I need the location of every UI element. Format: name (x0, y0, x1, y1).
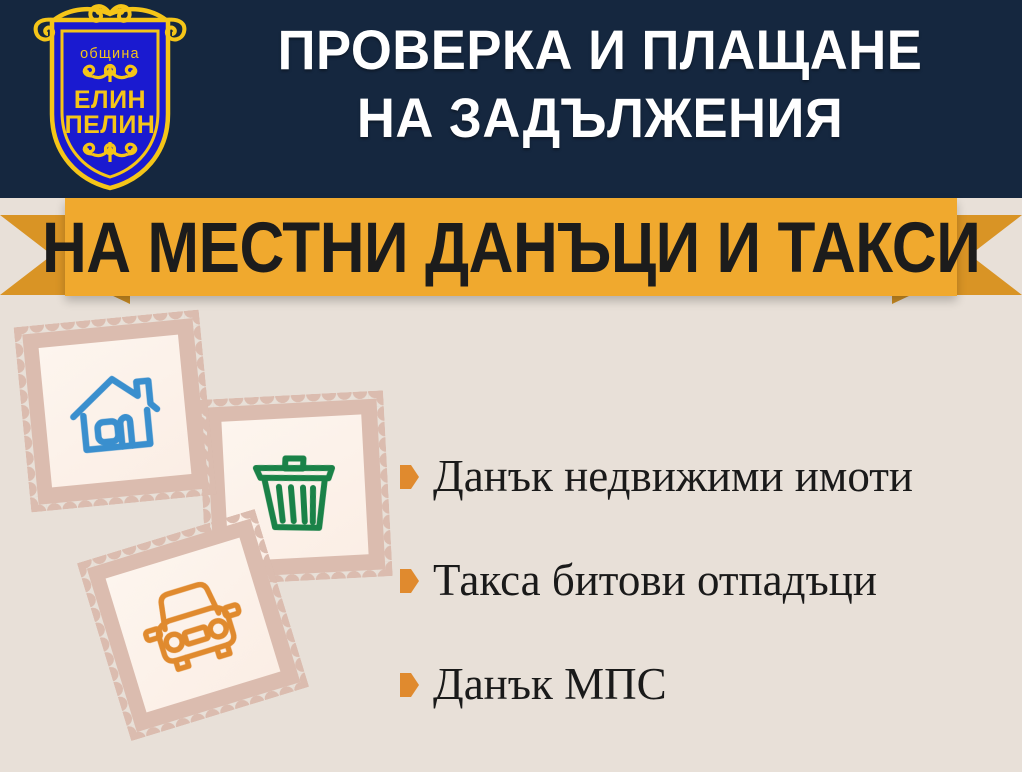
page-title-line2: НА ЗАДЪЛЖЕНИЯ (215, 84, 986, 152)
list-item[interactable]: Данък МПС (400, 632, 1010, 736)
list-item-label: Такса битови отпадъци (433, 558, 877, 603)
stamp-paper (106, 538, 281, 713)
tax-types-list: Данък недвижими имоти Такса битови отпад… (400, 424, 1010, 736)
house-icon (58, 354, 171, 467)
arrow-bullet-icon (400, 569, 419, 593)
municipality-crest: община ЕЛИН ПЕЛИН (30, 2, 190, 194)
crest-name-line2: ПЕЛИН (65, 111, 156, 139)
stamp-paper (39, 335, 192, 488)
page-title: ПРОВЕРКА И ПЛАЩАНЕ НА ЗАДЪЛЖЕНИЯ (190, 16, 1010, 152)
subtitle-ribbon: НА МЕСТНИ ДАНЪЦИ И ТАКСИ (0, 198, 1022, 308)
arrow-bullet-icon (400, 465, 419, 489)
list-item-label: Данък МПС (433, 662, 667, 707)
arrow-bullet-icon (400, 673, 419, 697)
car-icon (126, 558, 261, 693)
crest-top-text: община (80, 46, 140, 62)
page-title-line1: ПРОВЕРКА И ПЛАЩАНЕ (215, 16, 986, 84)
ribbon-banner: НА МЕСТНИ ДАНЪЦИ И ТАКСИ (65, 198, 957, 296)
ribbon-label: НА МЕСТНИ ДАНЪЦИ И ТАКСИ (42, 206, 980, 288)
list-item[interactable]: Данък недвижими имоти (400, 424, 1010, 528)
list-item[interactable]: Такса битови отпадъци (400, 528, 1010, 632)
stamp-card-property (14, 310, 217, 513)
crest-name-line1: ЕЛИН (74, 86, 146, 114)
list-item-label: Данък недвижими имоти (433, 454, 913, 499)
